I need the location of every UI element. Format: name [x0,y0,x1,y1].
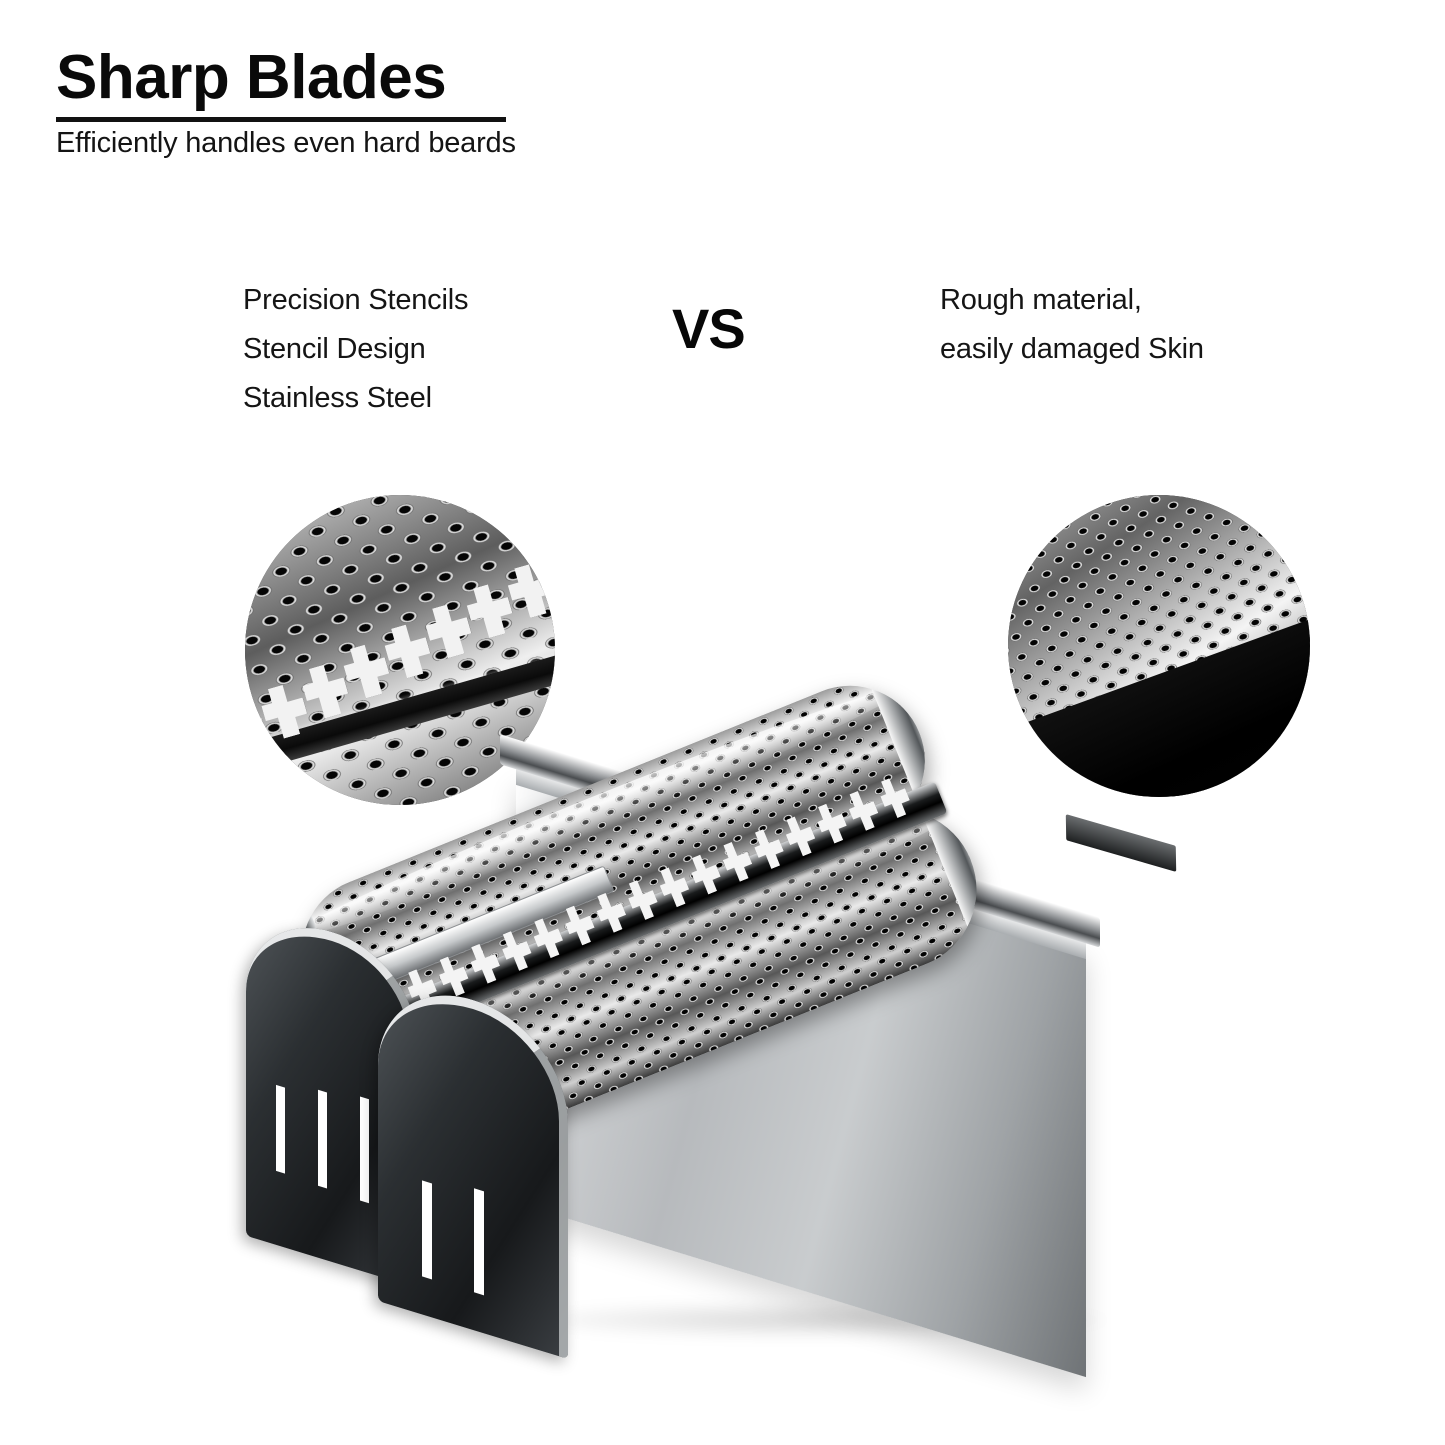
page-subtitle: Efficiently handles even hard beards [56,127,526,160]
product-image-shaver-head: Series 5 [200,700,1200,1440]
comparison-right-line-1: Rough material, [940,276,1360,325]
comparison-left-line-1: Precision Stencils [243,276,623,325]
endcap-notch [422,1180,432,1279]
dark-trim-accent [1066,814,1176,872]
comparison-band: Precision Stencils Stencil Design Stainl… [0,268,1445,418]
infographic-page: Sharp Blades Efficiently handles even ha… [0,0,1445,1445]
versus-label: VS [672,296,745,361]
comparison-left-line-3: Stainless Steel [243,374,623,423]
endcap-notch [474,1188,484,1295]
page-title: Sharp Blades [56,46,526,109]
title-underline-rule [56,117,506,122]
endcap-notch [360,1097,369,1204]
comparison-right-line-2: easily damaged Skin [940,325,1360,374]
comparison-right-column: Rough material, easily damaged Skin [940,276,1360,374]
endcap-notch [276,1085,285,1174]
comparison-left-column: Precision Stencils Stencil Design Stainl… [243,276,623,423]
comparison-left-line-2: Stencil Design [243,325,623,374]
endcap-notch [318,1090,327,1189]
header-block: Sharp Blades Efficiently handles even ha… [56,46,526,161]
